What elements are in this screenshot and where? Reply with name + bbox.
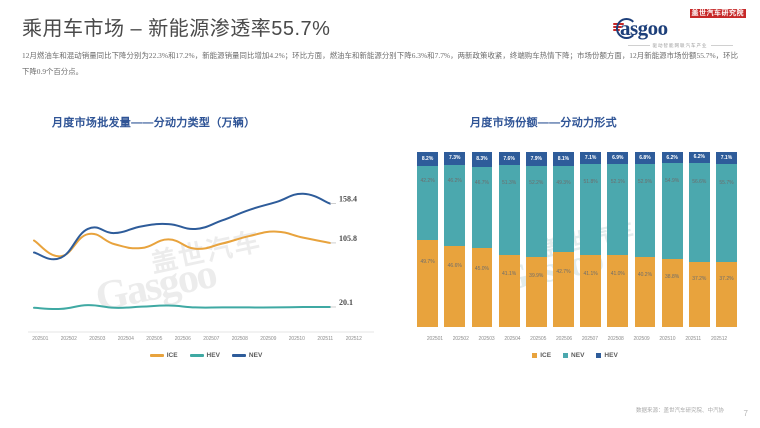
summary-paragraph: 12月燃油车和混动销量同比下降分别为22.3%和17.2%，新能源销量同比增加4… — [22, 48, 738, 80]
bar-segment-ice[interactable]: 46.6% — [444, 246, 465, 327]
bar-segment-label: 49.7% — [420, 259, 434, 265]
legend-swatch-icon — [563, 353, 568, 358]
legend-label: ICE — [540, 352, 551, 359]
bar-column[interactable]: 6.9%52.1%41.0% — [604, 152, 631, 327]
bar-segment-nev[interactable]: 51.8% — [580, 164, 601, 255]
left-x-tick: 202507 — [197, 336, 226, 342]
bar-segment-ice[interactable]: 37.2% — [716, 262, 737, 327]
bar-segment-hev[interactable]: 7.6% — [499, 152, 520, 165]
right-chart-legend: ICENEVHEV — [400, 352, 750, 359]
bar-segment-label: 42.2% — [420, 178, 434, 184]
left-x-tick: 202501 — [26, 336, 55, 342]
right-x-tick: 202507 — [577, 336, 603, 342]
gasgoo-logo: 盖世汽车研究院 asgoo 驱动智能网联汽车产业 — [612, 8, 748, 48]
bar-segment-label: 41.0% — [611, 271, 625, 277]
right-legend-item-hev[interactable]: HEV — [596, 352, 617, 359]
bar-column[interactable]: 6.2%56.6%37.2% — [686, 152, 713, 327]
right-x-tick: 202511 — [680, 336, 706, 342]
bar-segment-label: 7.9% — [531, 156, 542, 162]
bar-segment-hev[interactable]: 7.1% — [580, 152, 601, 164]
left-chart-title: 月度市场批发量——分动力类型（万辆） — [52, 114, 255, 130]
bar-segment-hev[interactable]: 8.2% — [417, 152, 438, 166]
left-x-tick: 202509 — [254, 336, 283, 342]
bar-segment-nev[interactable]: 54.9% — [662, 163, 683, 259]
bar-segment-label: 39.9% — [529, 273, 543, 279]
bar-segment-label: 42.7% — [556, 269, 570, 275]
bar-segment-label: 6.9% — [612, 155, 623, 161]
right-chart-x-axis: 2025012025022025032025042025052025062025… — [422, 336, 732, 342]
bar-segment-ice[interactable]: 45.0% — [472, 248, 493, 327]
left-x-tick: 202510 — [283, 336, 312, 342]
bar-segment-ice[interactable]: 49.7% — [417, 240, 438, 327]
right-x-tick: 202503 — [474, 336, 500, 342]
bar-segment-label: 7.3% — [449, 155, 460, 161]
bar-segment-label: 55.7% — [719, 180, 733, 186]
bar-segment-hev[interactable]: 6.8% — [635, 152, 656, 164]
legend-label: NEV — [571, 352, 584, 359]
legend-swatch-icon — [232, 354, 246, 357]
bar-segment-ice[interactable]: 41.1% — [580, 255, 601, 327]
line-end-label-nev: 158.4 — [339, 195, 357, 204]
bar-segment-ice[interactable]: 42.7% — [553, 252, 574, 327]
left-x-tick: 202502 — [55, 336, 84, 342]
bar-segment-label: 52.1% — [611, 179, 625, 185]
bar-segment-label: 6.8% — [639, 155, 650, 161]
bar-segment-hev[interactable]: 8.3% — [472, 152, 493, 167]
bar-segment-nev[interactable]: 55.7% — [716, 164, 737, 261]
bar-segment-label: 38.8% — [665, 274, 679, 280]
bar-segment-label: 49.3% — [556, 180, 570, 186]
right-x-tick: 202506 — [551, 336, 577, 342]
right-x-tick: 202501 — [422, 336, 448, 342]
left-legend-item-ice[interactable]: ICE — [150, 352, 178, 359]
left-x-tick: 202511 — [311, 336, 340, 342]
bar-segment-hev[interactable]: 6.9% — [607, 152, 628, 164]
logo-chinese-name: 盖世汽车研究院 — [690, 9, 747, 18]
left-x-tick: 202505 — [140, 336, 169, 342]
left-legend-item-hev[interactable]: HEV — [190, 352, 220, 359]
line-series-nev — [34, 194, 330, 260]
right-x-tick: 202502 — [448, 336, 474, 342]
bar-segment-nev[interactable]: 52.1% — [607, 164, 628, 255]
legend-swatch-icon — [596, 353, 601, 358]
bar-segment-ice[interactable]: 37.2% — [689, 262, 710, 327]
bar-segment-label: 40.2% — [638, 272, 652, 278]
bar-segment-label: 51.3% — [502, 180, 516, 186]
bar-segment-ice[interactable]: 41.0% — [607, 255, 628, 327]
bar-column[interactable]: 7.6%51.3%41.1% — [496, 152, 523, 327]
bar-segment-nev[interactable]: 42.2% — [417, 166, 438, 240]
bar-segment-hev[interactable]: 7.9% — [526, 152, 547, 166]
bar-segment-hev[interactable]: 7.1% — [716, 152, 737, 164]
right-legend-item-nev[interactable]: NEV — [563, 352, 584, 359]
bar-column[interactable]: 8.1%49.3%42.7% — [550, 152, 577, 327]
line-chart: 105.820.1158.4 — [22, 140, 390, 340]
line-chart-svg: 105.820.1158.4 — [22, 140, 390, 340]
bar-segment-nev[interactable]: 52.2% — [526, 166, 547, 257]
bar-segment-hev[interactable]: 7.3% — [444, 152, 465, 165]
bar-column[interactable]: 6.8%52.9%40.2% — [631, 152, 658, 327]
line-end-label-hev: 20.1 — [339, 298, 353, 307]
bar-segment-nev[interactable]: 56.6% — [689, 163, 710, 262]
bar-segment-label: 54.9% — [665, 178, 679, 184]
logo-brand-text: asgoo — [620, 16, 668, 41]
bar-segment-label: 8.3% — [476, 156, 487, 162]
right-x-tick: 202504 — [499, 336, 525, 342]
bar-segment-hev[interactable]: 6.2% — [662, 152, 683, 163]
bar-column[interactable]: 8.3%46.7%45.0% — [468, 152, 495, 327]
bar-segment-ice[interactable]: 38.8% — [662, 259, 683, 327]
left-legend-item-nev[interactable]: NEV — [232, 352, 262, 359]
bar-segment-label: 45.0% — [475, 266, 489, 272]
bar-segment-nev[interactable]: 46.2% — [444, 165, 465, 246]
left-x-tick: 202504 — [112, 336, 141, 342]
bar-segment-label: 56.6% — [692, 179, 706, 185]
left-x-tick: 202503 — [83, 336, 112, 342]
bar-segment-label: 6.2% — [666, 155, 677, 161]
right-x-tick: 202505 — [525, 336, 551, 342]
bar-column[interactable]: 7.1%55.7%37.2% — [713, 152, 740, 327]
bar-segment-ice[interactable]: 39.9% — [526, 257, 547, 327]
right-x-tick: 202509 — [629, 336, 655, 342]
bar-segment-label: 7.1% — [721, 155, 732, 161]
bar-segment-label: 46.7% — [475, 180, 489, 186]
right-x-tick: 202508 — [603, 336, 629, 342]
legend-label: HEV — [207, 352, 220, 359]
bar-segment-label: 52.2% — [529, 180, 543, 186]
bar-segment-hev[interactable]: 8.1% — [553, 152, 574, 166]
stacked-bar-chart: 8.2%42.2%49.7%7.3%46.2%46.6%8.3%46.7%45.… — [414, 152, 740, 327]
right-legend-item-ice[interactable]: ICE — [532, 352, 551, 359]
source-note: 数据来源：盖世汽车研究院、中汽协 — [636, 406, 724, 414]
bar-column[interactable]: 7.9%52.2%39.9% — [523, 152, 550, 327]
bar-segment-label: 41.1% — [584, 271, 598, 277]
left-x-tick: 202508 — [226, 336, 255, 342]
line-series-ice — [34, 232, 330, 257]
bar-segment-label: 7.1% — [585, 155, 596, 161]
bar-column[interactable]: 7.1%51.8%41.1% — [577, 152, 604, 327]
left-chart-legend: ICEHEVNEV — [22, 352, 390, 359]
bar-segment-label: 46.2% — [448, 178, 462, 184]
right-x-tick: 202512 — [706, 336, 732, 342]
legend-label: ICE — [167, 352, 178, 359]
line-series-hev — [34, 305, 330, 309]
legend-swatch-icon — [150, 354, 164, 357]
bar-segment-label: 37.2% — [692, 276, 706, 282]
left-x-tick: 202512 — [340, 336, 369, 342]
bar-segment-label: 52.9% — [638, 179, 652, 185]
page-number: 7 — [744, 409, 748, 418]
legend-label: NEV — [249, 352, 262, 359]
legend-label: HEV — [604, 352, 617, 359]
bar-segment-label: 37.2% — [719, 276, 733, 282]
bar-segment-nev[interactable]: 51.3% — [499, 165, 520, 255]
bar-segment-ice[interactable]: 41.1% — [499, 255, 520, 327]
bar-column[interactable]: 8.2%42.2%49.7% — [414, 152, 441, 327]
bar-segment-hev[interactable]: 6.2% — [689, 152, 710, 163]
page-title: 乘用车市场 – 新能源渗透率55.7% — [22, 12, 330, 41]
bar-segment-label: 7.6% — [503, 156, 514, 162]
bar-segment-label: 6.2% — [694, 154, 705, 160]
bar-segment-label: 8.2% — [422, 156, 433, 162]
right-chart-title: 月度市场份额——分动力形式 — [470, 114, 617, 130]
bar-segment-nev[interactable]: 49.3% — [553, 166, 574, 252]
bar-segment-label: 8.1% — [558, 156, 569, 162]
bar-segment-ice[interactable]: 40.2% — [635, 257, 656, 327]
bar-column[interactable]: 7.3%46.2%46.6% — [441, 152, 468, 327]
bar-segment-nev[interactable]: 52.9% — [635, 164, 656, 257]
bar-segment-nev[interactable]: 46.7% — [472, 167, 493, 249]
bar-column[interactable]: 6.2%54.9%38.8% — [659, 152, 686, 327]
line-end-label-ice: 105.8 — [339, 234, 357, 243]
left-chart-x-axis: 2025012025022025032025042025052025062025… — [26, 336, 368, 342]
bar-segment-label: 46.6% — [448, 263, 462, 269]
right-x-tick: 202510 — [654, 336, 680, 342]
legend-swatch-icon — [190, 354, 204, 357]
bar-segment-label: 51.8% — [584, 179, 598, 185]
left-x-tick: 202506 — [169, 336, 198, 342]
legend-swatch-icon — [532, 353, 537, 358]
bar-segment-label: 41.1% — [502, 271, 516, 277]
